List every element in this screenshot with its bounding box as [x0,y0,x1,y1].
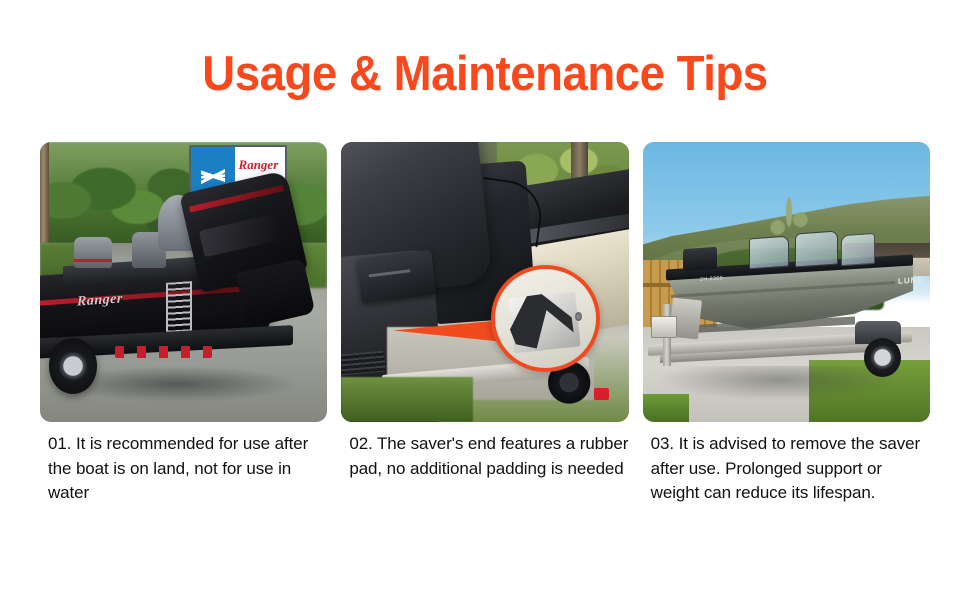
bracket-bolt [575,312,582,321]
boat-seat-front [74,237,111,268]
trailer-tool-box [651,316,677,338]
trailer-marker-light [594,388,608,399]
tips-image-row: Ranger [40,142,930,422]
trailer-wheel [49,338,98,394]
grass-foreground [341,377,473,422]
boat-shadow [660,366,901,400]
tip-image-card-02[interactable] [341,142,628,422]
windshield-center [795,230,838,267]
utility-post [40,142,49,243]
page-title: Usage & Maintenance Tips [34,46,936,102]
tip-caption-02: 02. The saver's end features a rubber pa… [341,432,640,506]
tip-image-card-03[interactable]: 2H 2300 LUND [643,142,930,422]
boarding-ladder [166,281,192,333]
tip-caption-03: 03. It is advised to remove the saver af… [643,432,930,506]
outboard-side-plate [356,250,436,304]
boat-console [683,247,717,272]
windshield-port [749,236,789,270]
tip-image-card-01[interactable]: Ranger [40,142,327,422]
tip-caption-01: 01. It is recommended for use after the … [40,432,327,506]
tips-caption-row: 01. It is recommended for use after the … [40,432,930,506]
magnifier-callout [491,265,600,371]
windshield-starboard [841,233,875,266]
trailer-tail-lights [115,346,213,357]
